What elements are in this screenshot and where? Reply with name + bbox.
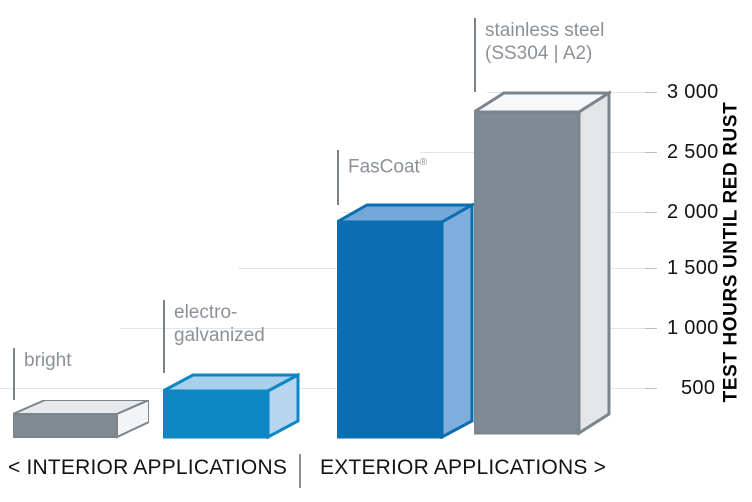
tick-2500 [645, 152, 657, 153]
callout-bright-label: bright [24, 348, 72, 372]
tick-2000 [645, 212, 657, 213]
bar-bright[interactable] [13, 400, 149, 440]
chart-root: 3 000 2 500 2 000 1 500 1 000 500 TEST H… [0, 0, 752, 502]
bar-fascoat[interactable] [337, 203, 474, 439]
callout-electro-galvanized: electro- galvanized [163, 300, 265, 373]
callout-fascoat-label-text: FasCoat [348, 156, 420, 177]
callout-bright: bright [13, 348, 72, 400]
tick-1000 [645, 328, 657, 329]
y-axis-title-text: TEST HOURS UNTIL RED RUST [720, 102, 742, 403]
bar-bright-shape [13, 400, 149, 440]
callout-fascoat: FasCoat® [337, 150, 427, 205]
callout-stainless-steel: stainless steel (SS304 | A2) [474, 18, 604, 92]
footer-interior-label: < INTERIOR APPLICATIONS [8, 456, 287, 480]
footer-divider [299, 454, 301, 488]
callout-stainless-steel-label: stainless steel (SS304 | A2) [485, 18, 604, 65]
ytick-label-3000: 3 000 [667, 81, 719, 104]
callout-fascoat-label: FasCoat® [348, 150, 427, 178]
bar-electro-galvanized[interactable] [163, 373, 300, 439]
callout-fascoat-rule [337, 150, 339, 205]
registered-trademark-icon: ® [420, 157, 427, 168]
callout-electro-galvanized-rule [163, 300, 165, 373]
y-axis-title: TEST HOURS UNTIL RED RUST [716, 52, 746, 452]
ytick-label-500: 500 [681, 377, 715, 400]
bar-stainless-steel-shape [474, 90, 611, 436]
bar-stainless-steel[interactable] [474, 90, 611, 436]
footer-exterior-label: EXTERIOR APPLICATIONS > [320, 456, 606, 480]
footer-applications: < INTERIOR APPLICATIONS EXTERIOR APPLICA… [0, 442, 640, 502]
bar-electro-galvanized-shape [163, 373, 300, 439]
tick-500 [645, 388, 657, 389]
ytick-label-2500: 2 500 [667, 141, 719, 164]
tick-1500 [645, 268, 657, 269]
callout-stainless-steel-rule [474, 18, 476, 92]
ytick-label-1000: 1 000 [667, 317, 719, 340]
tick-3000 [645, 92, 657, 93]
ytick-label-2000: 2 000 [667, 201, 719, 224]
ytick-label-1500: 1 500 [667, 257, 719, 280]
bar-fascoat-shape [337, 203, 474, 439]
callout-electro-galvanized-label: electro- galvanized [174, 300, 265, 347]
callout-bright-rule [13, 348, 15, 400]
